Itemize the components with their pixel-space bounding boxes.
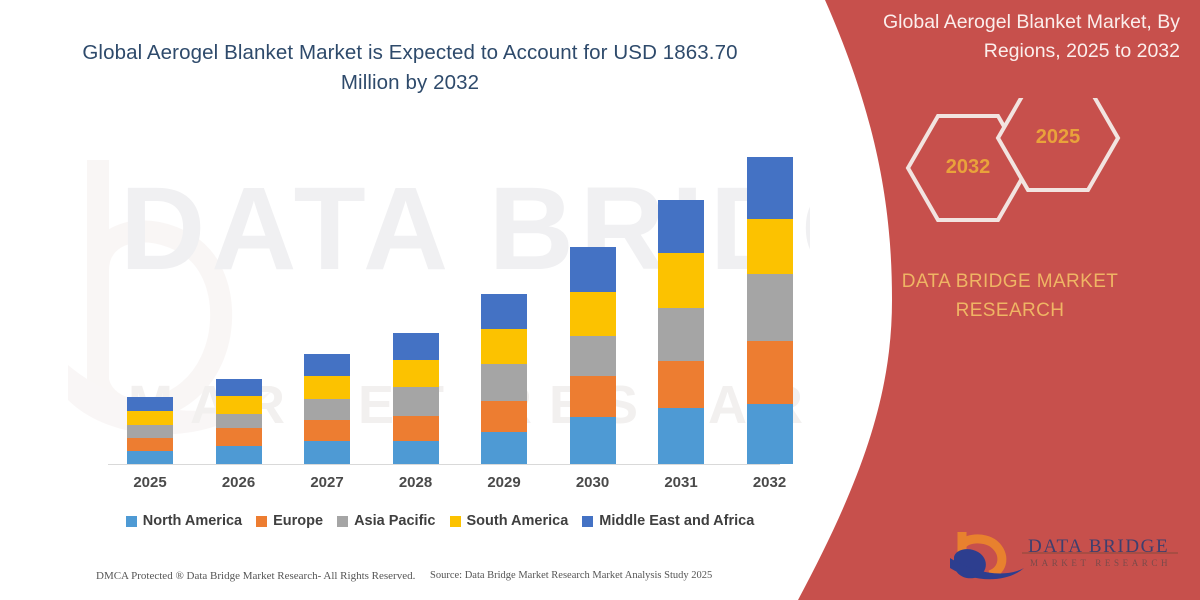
x-axis-label-2027: 2027 bbox=[287, 474, 367, 491]
brand-name: DATA BRIDGE MARKET RESEARCH bbox=[840, 268, 1180, 325]
x-axis-label-2028: 2028 bbox=[376, 474, 456, 491]
bar-segment-south-america bbox=[216, 396, 262, 414]
bar-segment-north-america bbox=[216, 446, 262, 464]
bar-segment-middle-east-and-africa bbox=[658, 200, 704, 253]
bar-segment-north-america bbox=[570, 417, 616, 464]
legend-label: Asia Pacific bbox=[354, 513, 435, 529]
bar-segment-middle-east-and-africa bbox=[304, 354, 350, 376]
bar-2031 bbox=[658, 200, 704, 464]
year-hexagons: 2032 2025 bbox=[880, 98, 1180, 238]
bar-segment-asia-pacific bbox=[658, 308, 704, 361]
bar-2029 bbox=[481, 294, 527, 464]
company-logo: DATA BRIDGE MARKET RESEARCH bbox=[950, 528, 1180, 586]
bar-2025 bbox=[127, 397, 173, 464]
side-panel: Global Aerogel Blanket Market, By Region… bbox=[780, 0, 1200, 600]
bar-segment-asia-pacific bbox=[304, 399, 350, 420]
legend-swatch-icon bbox=[256, 516, 267, 527]
brand-line-1: DATA BRIDGE MARKET bbox=[840, 268, 1180, 297]
legend-item-asia-pacific[interactable]: Asia Pacific bbox=[337, 513, 435, 529]
legend-label: South America bbox=[467, 513, 569, 529]
bar-segment-asia-pacific bbox=[127, 425, 173, 438]
bar-segment-north-america bbox=[481, 432, 527, 464]
x-axis-label-2030: 2030 bbox=[553, 474, 633, 491]
x-axis-label-2026: 2026 bbox=[199, 474, 279, 491]
bar-segment-europe bbox=[216, 428, 262, 446]
bar-segment-north-america bbox=[658, 408, 704, 464]
panel-title: Global Aerogel Blanket Market, By Region… bbox=[828, 8, 1180, 67]
legend-swatch-icon bbox=[126, 516, 137, 527]
x-axis-line bbox=[108, 464, 780, 465]
bar-segment-asia-pacific bbox=[570, 336, 616, 376]
x-axis-label-2029: 2029 bbox=[464, 474, 544, 491]
bar-segment-asia-pacific bbox=[216, 414, 262, 428]
infographic-canvas: DATA BRIDGE MARKET RESEARCH Global Aerog… bbox=[0, 0, 1200, 600]
legend-swatch-icon bbox=[337, 516, 348, 527]
bar-segment-europe bbox=[127, 438, 173, 451]
bar-segment-middle-east-and-africa bbox=[481, 294, 527, 329]
legend-label: Middle East and Africa bbox=[599, 513, 754, 529]
bar-2028 bbox=[393, 333, 439, 464]
bar-segment-north-america bbox=[304, 441, 350, 464]
legend-swatch-icon bbox=[450, 516, 461, 527]
bar-segment-middle-east-and-africa bbox=[570, 247, 616, 292]
bar-segment-north-america bbox=[393, 441, 439, 464]
legend-item-south-america[interactable]: South America bbox=[450, 513, 569, 529]
bar-segment-south-america bbox=[127, 411, 173, 425]
legend-item-middle-east-and-africa[interactable]: Middle East and Africa bbox=[582, 513, 754, 529]
stacked-bar-chart: 20252026202720282029203020312032 bbox=[0, 0, 810, 600]
chart-legend: North AmericaEuropeAsia PacificSouth Ame… bbox=[104, 513, 776, 529]
bar-2027 bbox=[304, 354, 350, 464]
logo-text-sub: MARKET RESEARCH bbox=[1030, 558, 1171, 568]
legend-item-north-america[interactable]: North America bbox=[126, 513, 242, 529]
legend-label: Europe bbox=[273, 513, 323, 529]
x-axis-label-2025: 2025 bbox=[110, 474, 190, 491]
bar-segment-europe bbox=[393, 416, 439, 441]
bar-segment-north-america bbox=[127, 451, 173, 464]
bar-segment-europe bbox=[570, 376, 616, 417]
legend-item-europe[interactable]: Europe bbox=[256, 513, 323, 529]
bar-segment-europe bbox=[481, 401, 527, 432]
footer-source: Source: Data Bridge Market Research Mark… bbox=[430, 570, 712, 581]
bar-segment-south-america bbox=[393, 360, 439, 387]
bar-segment-europe bbox=[658, 361, 704, 408]
hexagon-label-2032: 2032 bbox=[938, 156, 998, 179]
bar-segment-middle-east-and-africa bbox=[216, 379, 262, 396]
bar-segment-middle-east-and-africa bbox=[393, 333, 439, 360]
legend-label: North America bbox=[143, 513, 242, 529]
x-axis-label-2031: 2031 bbox=[641, 474, 721, 491]
bar-segment-middle-east-and-africa bbox=[127, 397, 173, 411]
hexagon-label-2025: 2025 bbox=[1028, 126, 1088, 149]
bar-2026 bbox=[216, 379, 262, 464]
bar-segment-asia-pacific bbox=[393, 387, 439, 416]
hexagon-outlines-icon bbox=[880, 98, 1180, 238]
bar-segment-south-america bbox=[481, 329, 527, 364]
bar-segment-asia-pacific bbox=[481, 364, 527, 401]
footer-copyright: DMCA Protected ® Data Bridge Market Rese… bbox=[96, 570, 415, 582]
bar-segment-south-america bbox=[658, 253, 704, 308]
bar-segment-south-america bbox=[570, 292, 616, 336]
legend-swatch-icon bbox=[582, 516, 593, 527]
bar-2030 bbox=[570, 247, 616, 464]
logo-text-main: DATA BRIDGE bbox=[1028, 536, 1169, 558]
brand-line-2: RESEARCH bbox=[840, 297, 1180, 326]
bar-segment-europe bbox=[304, 420, 350, 441]
bar-segment-south-america bbox=[304, 376, 350, 399]
